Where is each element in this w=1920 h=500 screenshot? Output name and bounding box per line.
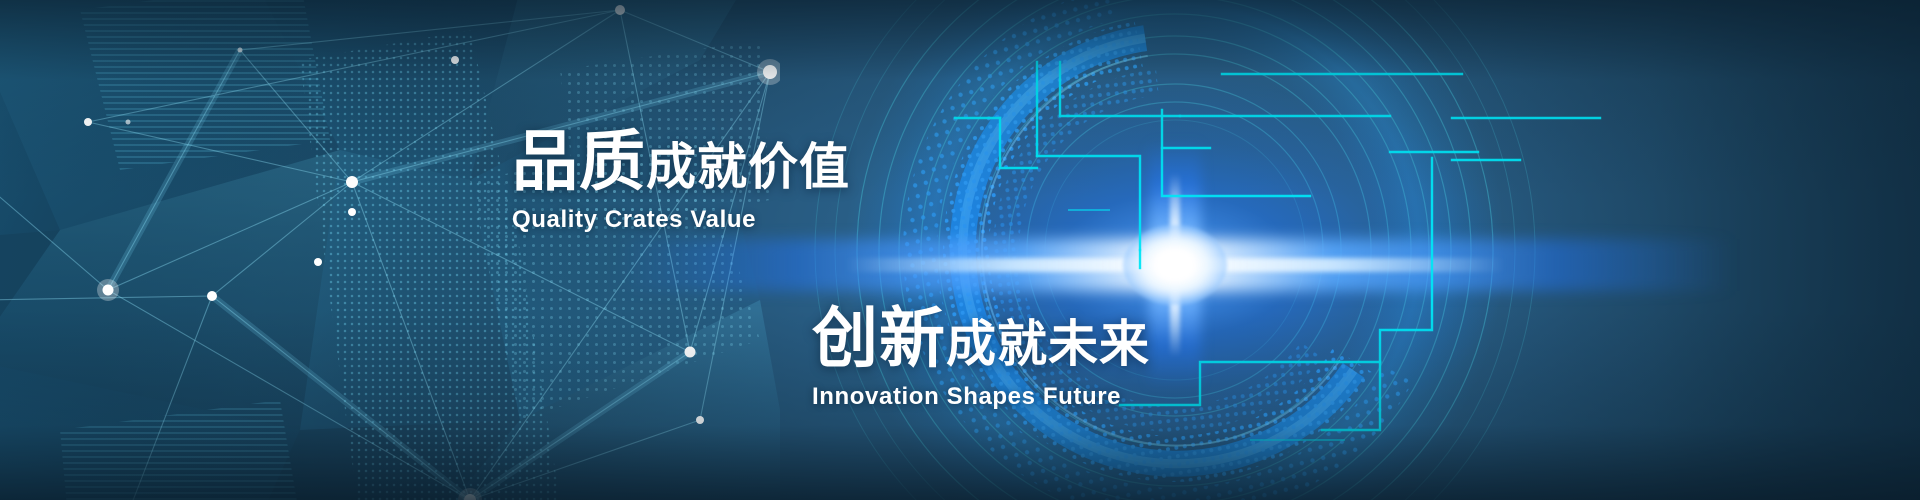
hero-banner: 品质成就价值 Quality Crates Value 创新成就未来 Innov… xyxy=(0,0,1920,500)
tagline-quality-cn-rest: 成就价值 xyxy=(646,139,850,195)
tagline-innovation-english: Innovation Shapes Future xyxy=(812,383,1150,411)
tagline-innovation-cn-lead: 创新 xyxy=(812,301,946,375)
tagline-innovation-cn-rest: 成就未来 xyxy=(946,316,1150,372)
tagline-quality-english: Quality Crates Value xyxy=(512,206,850,234)
tagline-quality-chinese: 品质成就价值 xyxy=(512,128,850,194)
tagline-innovation: 创新成就未来 Innovation Shapes Future xyxy=(812,305,1150,411)
tagline-innovation-chinese: 创新成就未来 xyxy=(812,305,1150,371)
tagline-quality-cn-lead: 品质 xyxy=(512,124,646,198)
background-vignette xyxy=(0,0,1920,500)
tagline-quality: 品质成就价值 Quality Crates Value xyxy=(512,128,850,234)
